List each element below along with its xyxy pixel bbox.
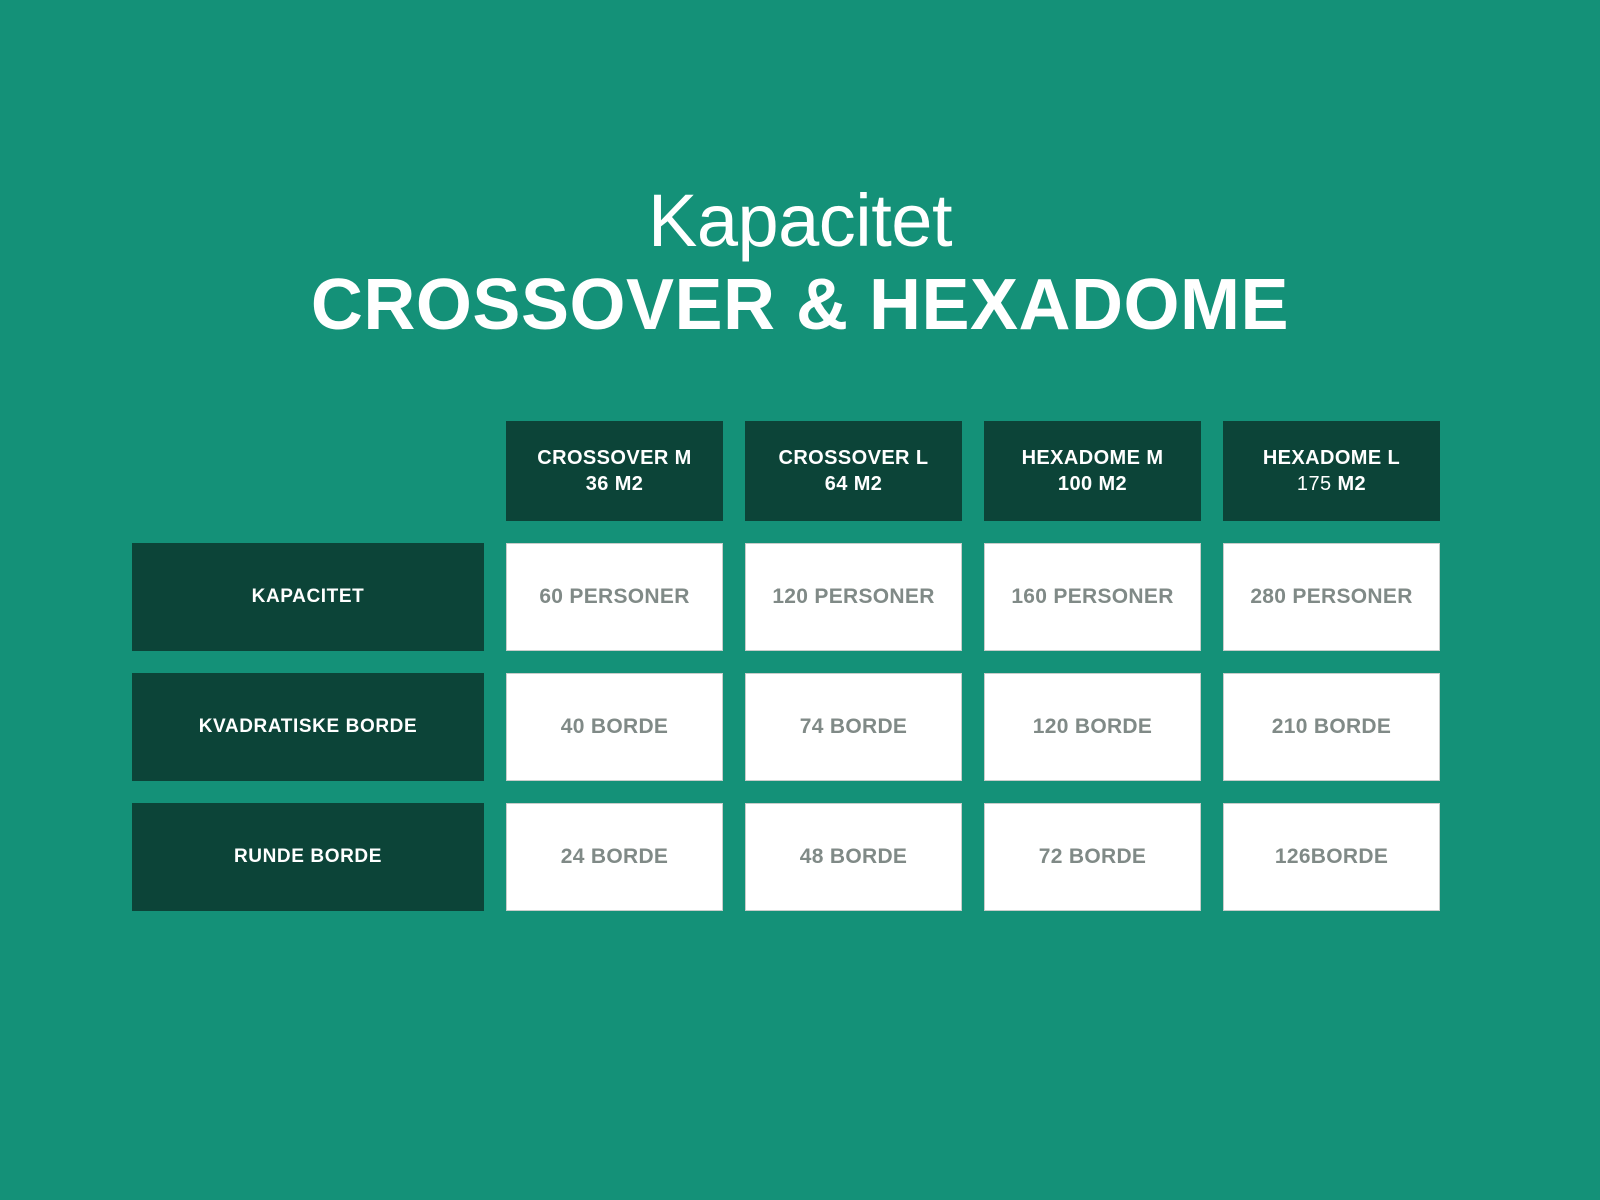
column-header-name: CROSSOVER M: [537, 445, 691, 471]
row-header-label: KAPACITET: [132, 543, 484, 651]
column-header-area-unit: M2: [615, 473, 644, 495]
column-header-name: CROSSOVER L: [779, 445, 929, 471]
title-line-products: CROSSOVER & HEXADOME: [0, 264, 1600, 346]
cell-runde-borde-hexadome-m: 72 BORDE: [984, 803, 1201, 911]
cell-kapacitet-hexadome-m: 160 PERSONER: [984, 543, 1201, 651]
table-row: KAPACITET 60 PERSONER 120 PERSONER 160 P…: [132, 543, 1435, 651]
column-header-area-value: 175: [1297, 473, 1332, 495]
cell-value: 120 PERSONER: [745, 543, 962, 651]
column-header-area-value: 36: [586, 473, 609, 495]
column-header-area: 64 M2: [825, 471, 883, 497]
column-header-name: HEXADOME L: [1263, 445, 1400, 471]
row-header-runde-borde: RUNDE BORDE: [132, 803, 484, 911]
column-header-area-value: 100: [1058, 473, 1093, 495]
column-header-crossover-m: CROSSOVER M 36 M2: [506, 421, 723, 521]
cell-kvadratiske-borde-hexadome-l: 210 BORDE: [1223, 673, 1440, 781]
cell-kapacitet-crossover-m: 60 PERSONER: [506, 543, 723, 651]
cell-kapacitet-hexadome-l: 280 PERSONER: [1223, 543, 1440, 651]
table-row: RUNDE BORDE 24 BORDE 48 BORDE 72 BORDE 1…: [132, 803, 1435, 911]
cell-kvadratiske-borde-hexadome-m: 120 BORDE: [984, 673, 1201, 781]
row-header-label: KVADRATISKE BORDE: [132, 673, 484, 781]
column-header-area-value: 64: [825, 473, 848, 495]
column-header-area-unit: M2: [1337, 473, 1366, 495]
table-corner-cell: [132, 421, 484, 521]
column-header-area-unit: M2: [854, 473, 883, 495]
cell-value: 160 PERSONER: [984, 543, 1201, 651]
table-header-row: CROSSOVER M 36 M2 CROSSOVER L 64 M2 HEXA…: [132, 421, 1435, 521]
cell-value: 40 BORDE: [506, 673, 723, 781]
cell-kapacitet-crossover-l: 120 PERSONER: [745, 543, 962, 651]
cell-value: 48 BORDE: [745, 803, 962, 911]
column-header-area: 36 M2: [586, 471, 644, 497]
column-header-name: HEXADOME M: [1022, 445, 1164, 471]
row-header-label: RUNDE BORDE: [132, 803, 484, 911]
column-header-area: 175 M2: [1297, 471, 1366, 497]
cell-runde-borde-crossover-m: 24 BORDE: [506, 803, 723, 911]
cell-value: 210 BORDE: [1223, 673, 1440, 781]
column-header-area-unit: M2: [1098, 473, 1127, 495]
cell-value: 60 PERSONER: [506, 543, 723, 651]
cell-kvadratiske-borde-crossover-l: 74 BORDE: [745, 673, 962, 781]
cell-value: 72 BORDE: [984, 803, 1201, 911]
column-header-area: 100 M2: [1058, 471, 1127, 497]
title-line-kapacitet: Kapacitet: [0, 178, 1600, 264]
cell-value: 120 BORDE: [984, 673, 1201, 781]
cell-runde-borde-crossover-l: 48 BORDE: [745, 803, 962, 911]
page-title: Kapacitet CROSSOVER & HEXADOME: [0, 178, 1600, 346]
column-header-crossover-l: CROSSOVER L 64 M2: [745, 421, 962, 521]
cell-value: 74 BORDE: [745, 673, 962, 781]
column-header-hexadome-l: HEXADOME L 175 M2: [1223, 421, 1440, 521]
table-row: KVADRATISKE BORDE 40 BORDE 74 BORDE 120 …: [132, 673, 1435, 781]
capacity-table: CROSSOVER M 36 M2 CROSSOVER L 64 M2 HEXA…: [132, 421, 1435, 911]
capacity-slide: Kapacitet CROSSOVER & HEXADOME CROSSOVER…: [0, 0, 1600, 1200]
cell-value: 126BORDE: [1223, 803, 1440, 911]
cell-value: 280 PERSONER: [1223, 543, 1440, 651]
row-header-kvadratiske-borde: KVADRATISKE BORDE: [132, 673, 484, 781]
cell-runde-borde-hexadome-l: 126BORDE: [1223, 803, 1440, 911]
cell-kvadratiske-borde-crossover-m: 40 BORDE: [506, 673, 723, 781]
column-header-hexadome-m: HEXADOME M 100 M2: [984, 421, 1201, 521]
cell-value: 24 BORDE: [506, 803, 723, 911]
row-header-kapacitet: KAPACITET: [132, 543, 484, 651]
